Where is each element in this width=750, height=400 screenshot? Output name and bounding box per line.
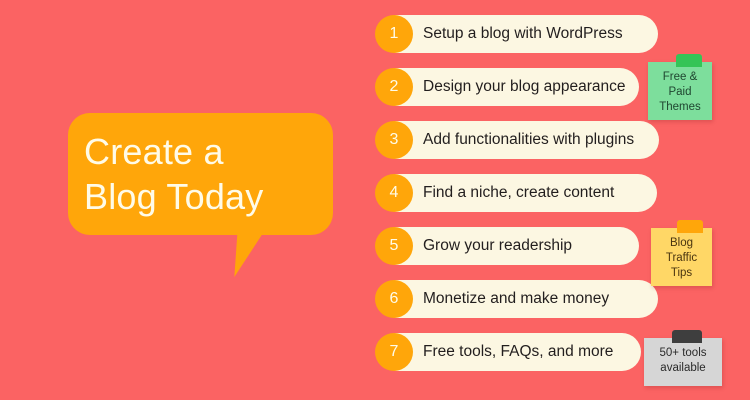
step-label: Monetize and make money	[423, 280, 609, 318]
step-number-badge: 4	[375, 174, 413, 212]
speech-bubble-tail	[234, 229, 265, 277]
step-label: Design your blog appearance	[423, 68, 626, 106]
sticky-note[interactable]: Free & Paid Themes	[648, 62, 712, 120]
step-number-badge: 6	[375, 280, 413, 318]
page-title: Create a Blog Today	[84, 129, 330, 219]
sticky-note-text: 50+ tools available	[644, 338, 722, 376]
sticky-note[interactable]: 50+ tools available	[644, 338, 722, 386]
steps-list: 1Setup a blog with WordPress2Design your…	[375, 15, 675, 395]
step-label: Find a niche, create content	[423, 174, 614, 212]
step-label: Setup a blog with WordPress	[423, 15, 623, 53]
step-number-badge: 2	[375, 68, 413, 106]
sticky-note-text: Blog Traffic Tips	[651, 228, 712, 281]
infographic-canvas: Create a Blog Today 1Setup a blog with W…	[0, 0, 750, 400]
sticky-note-text: Free & Paid Themes	[648, 62, 712, 115]
step-number-badge: 7	[375, 333, 413, 371]
step-label: Free tools, FAQs, and more	[423, 333, 613, 371]
step-label: Add functionalities with plugins	[423, 121, 634, 159]
step-number-badge: 5	[375, 227, 413, 265]
step-number-badge: 1	[375, 15, 413, 53]
step-label: Grow your readership	[423, 227, 572, 265]
step-number-badge: 3	[375, 121, 413, 159]
sticky-note[interactable]: Blog Traffic Tips	[651, 228, 712, 286]
headline-speech-bubble: Create a Blog Today	[68, 113, 333, 235]
